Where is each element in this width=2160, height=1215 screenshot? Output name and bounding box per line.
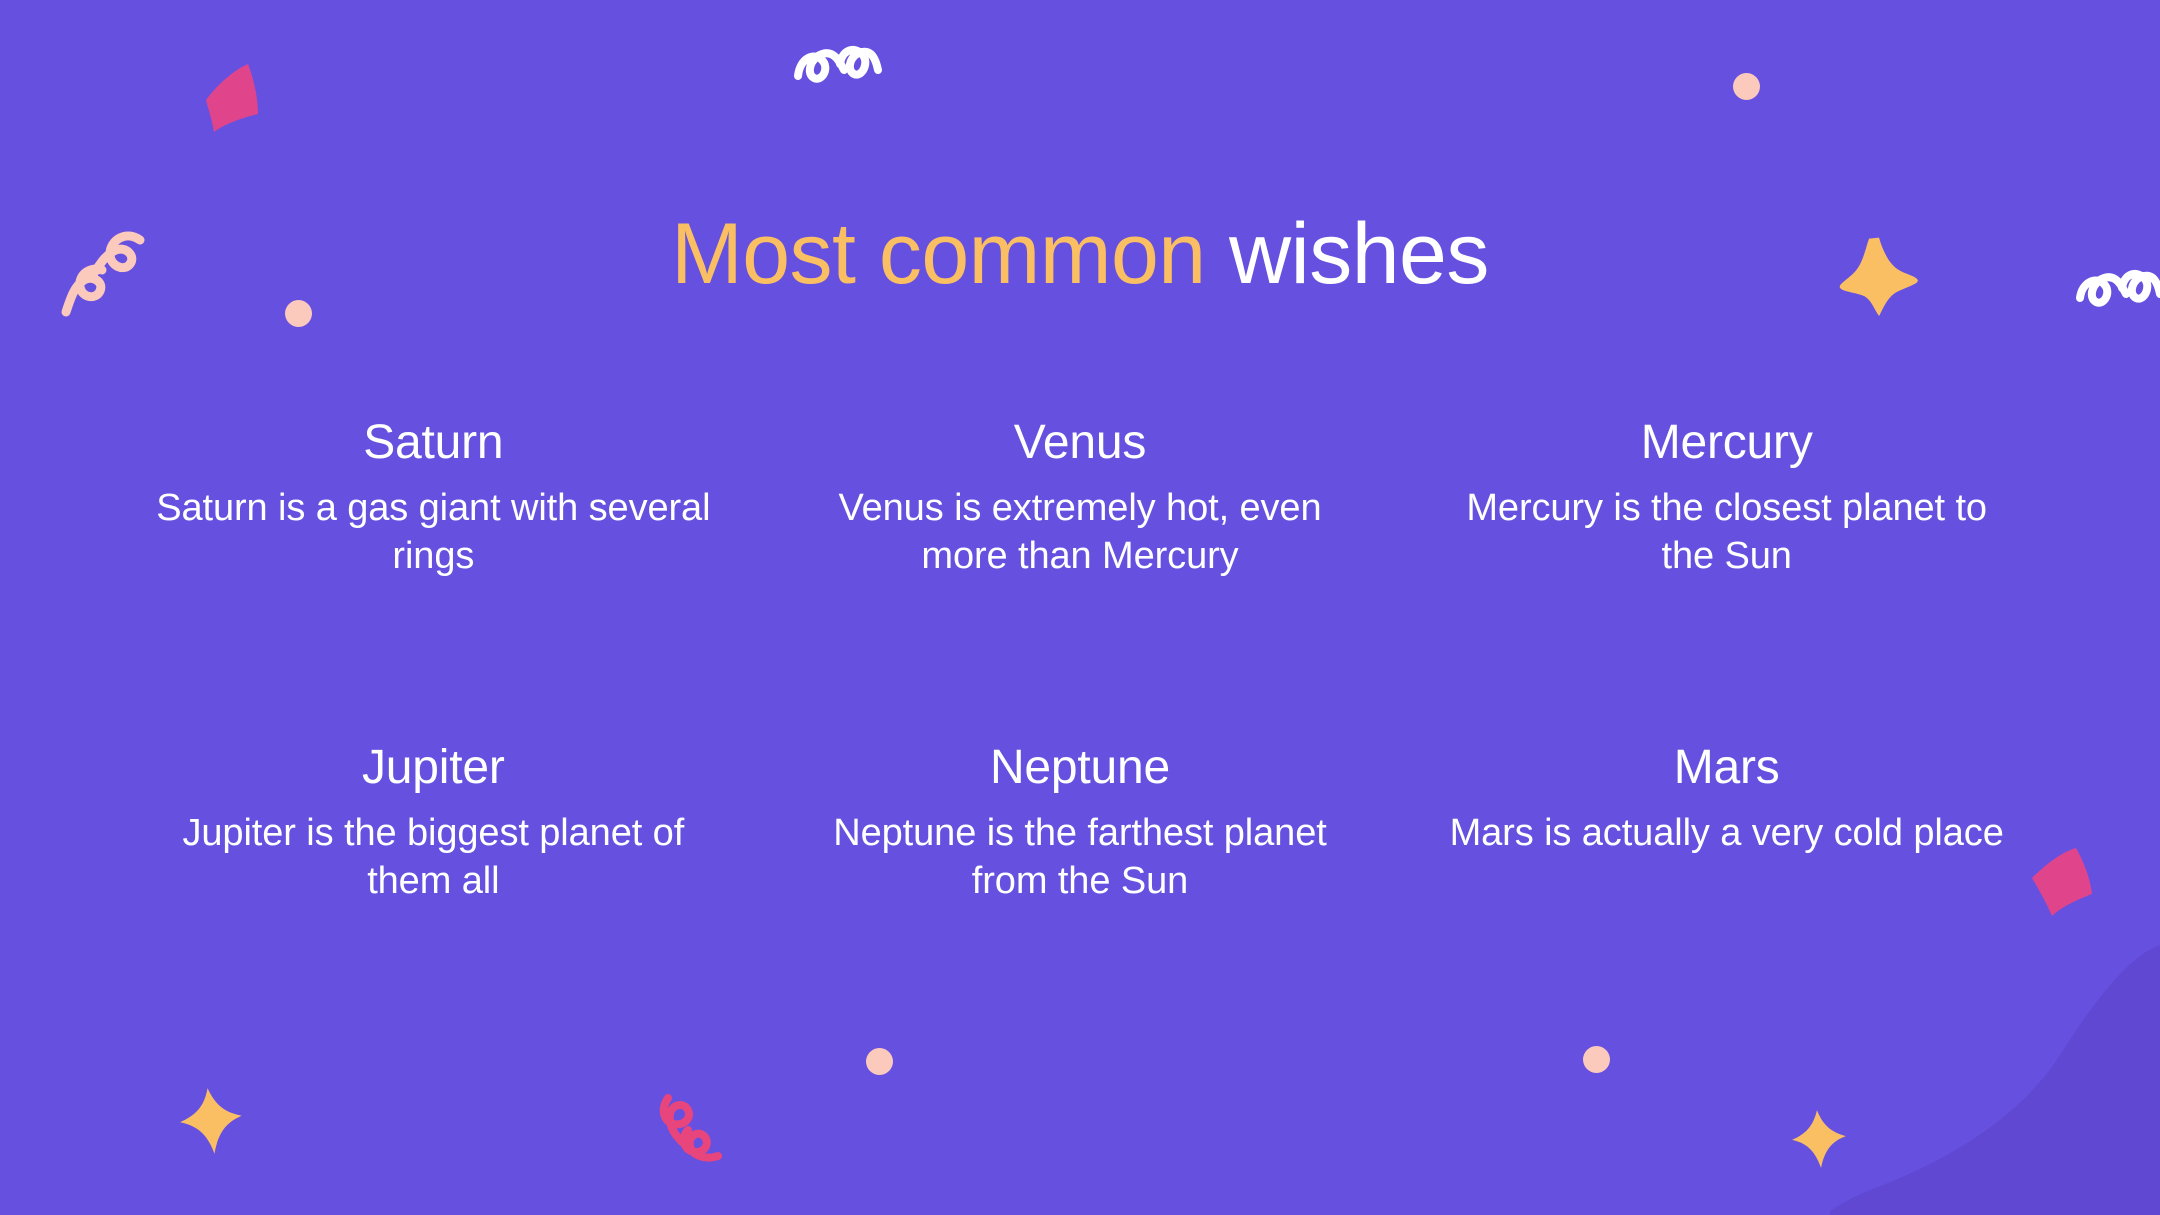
planet-name: Neptune [793,740,1368,797]
planet-grid: Saturn Saturn is a gas giant with severa… [110,415,2050,1065]
planet-card-venus[interactable]: Venus Venus is extremely hot, even more … [757,415,1404,740]
planet-card-mercury[interactable]: Mercury Mercury is the closest planet to… [1403,415,2050,740]
planet-card-jupiter[interactable]: Jupiter Jupiter is the biggest planet of… [110,740,757,1065]
planet-description: Saturn is a gas giant with several rings [153,484,713,581]
planet-card-saturn[interactable]: Saturn Saturn is a gas giant with severa… [110,415,757,740]
planet-description: Mars is actually a very cold place [1447,809,2007,858]
planet-description: Jupiter is the biggest planet of them al… [153,809,713,906]
slide-canvas: Most common wishes Saturn Saturn is a ga… [0,0,2160,1215]
planet-description: Neptune is the farthest planet from the … [800,809,1360,906]
planet-name: Mercury [1439,415,2014,472]
planet-card-mars[interactable]: Mars Mars is actually a very cold place [1403,740,2050,1065]
page-title: Most common wishes [0,206,2160,302]
planet-name: Jupiter [146,740,721,797]
page-title-plain: wishes [1206,206,1489,302]
slide-content: Most common wishes Saturn Saturn is a ga… [0,0,2160,1215]
page-title-accent: Most common [671,206,1206,302]
planet-description: Venus is extremely hot, even more than M… [800,484,1360,581]
planet-name: Mars [1439,740,2014,797]
planet-description: Mercury is the closest planet to the Sun [1447,484,2007,581]
planet-name: Venus [793,415,1368,472]
planet-name: Saturn [146,415,721,472]
planet-card-neptune[interactable]: Neptune Neptune is the farthest planet f… [757,740,1404,1065]
